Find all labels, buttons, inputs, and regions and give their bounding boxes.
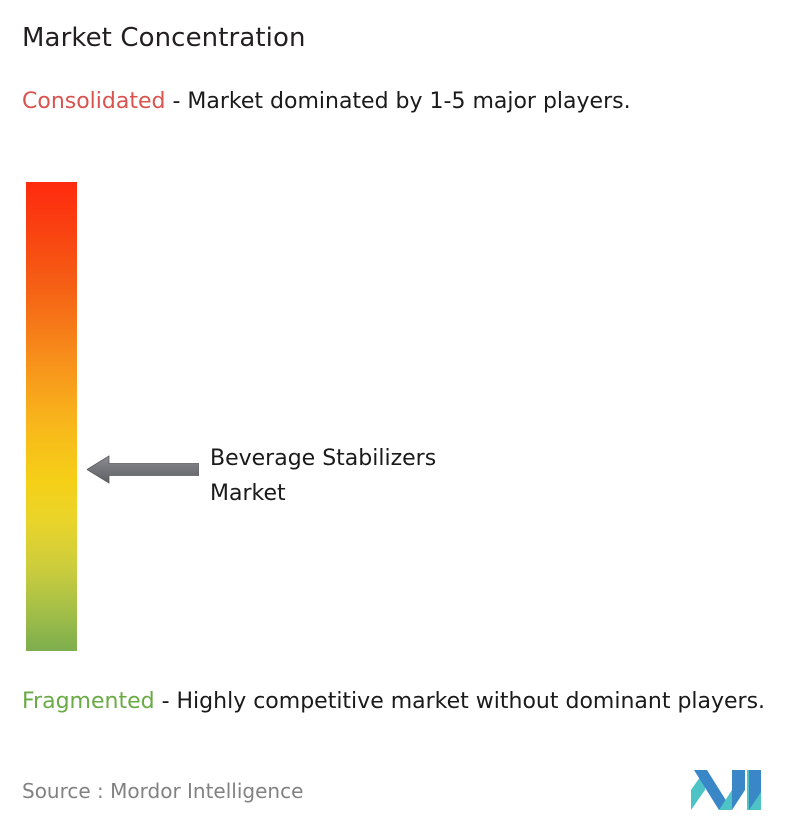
legend-description-fragmented: - Highly competitive market without domi… (155, 689, 765, 714)
legend-keyword-consolidated: Consolidated (22, 89, 165, 114)
marker-label: Beverage Stabilizers Market (210, 441, 570, 511)
source-credit: Source : Mordor Intelligence (22, 778, 303, 804)
legend-fragmented: Fragmented - Highly competitive market w… (22, 686, 784, 717)
legend-keyword-fragmented: Fragmented (22, 689, 155, 714)
concentration-gradient-bar (26, 182, 77, 651)
page-title: Market Concentration (22, 21, 306, 55)
marker-label-line2: Market (210, 476, 570, 511)
mordor-intelligence-logo-icon (691, 768, 763, 810)
legend-description-consolidated: - Market dominated by 1-5 major players. (165, 89, 630, 114)
marker-arrow-icon (87, 455, 199, 484)
legend-consolidated: Consolidated - Market dominated by 1-5 m… (22, 86, 762, 117)
chart-canvas: Market Concentration Consolidated - Mark… (0, 0, 796, 834)
marker-label-line1: Beverage Stabilizers (210, 441, 570, 476)
